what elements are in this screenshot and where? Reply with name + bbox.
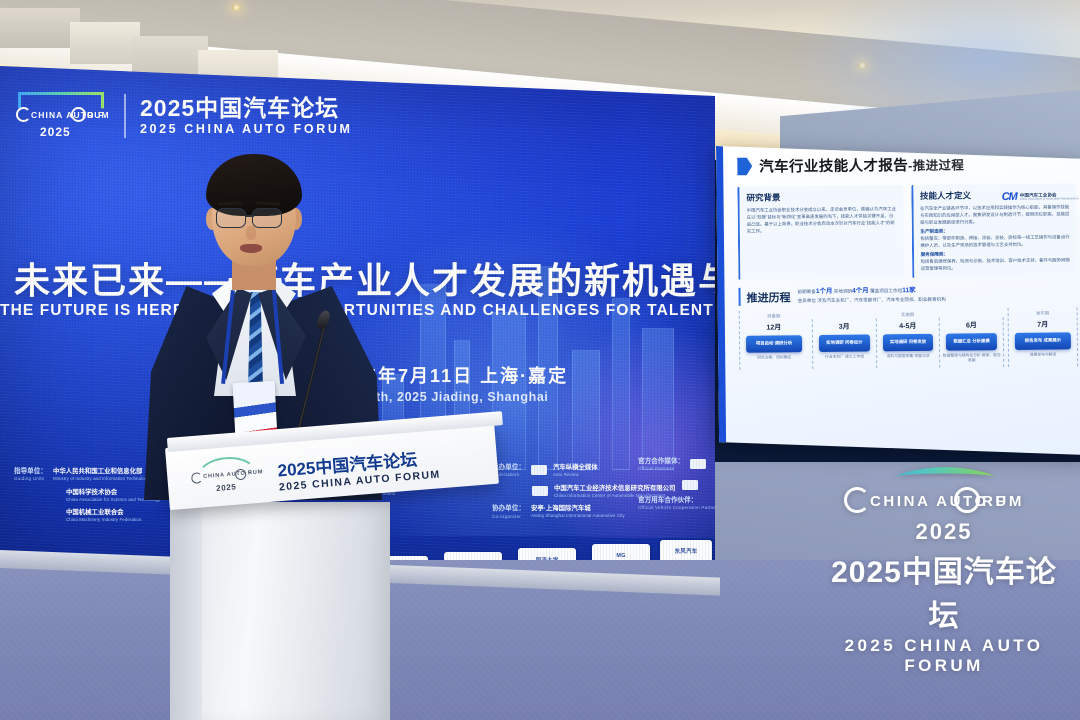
timeline-month: 4-5月 — [899, 320, 916, 330]
timeline-phase-label: 发布期 — [1036, 310, 1049, 316]
watermark-logo-icon: CHINA AUTO F RUM — [830, 463, 1058, 521]
ceiling-step — [0, 8, 80, 48]
credit-row: 官方用车合作伙伴： Official Vehicle Cooperation P… — [638, 497, 715, 511]
podium: CHINA AUTO F RUM 2025 2025中国汽车论坛 2025 CH… — [168, 436, 516, 720]
timeline-column: 3月 实地调研 问卷设计 行业主机厂 成立工作组 — [812, 318, 876, 369]
eyeglasses-lens-right — [252, 208, 282, 228]
caam-logo-text: 中国汽车工业协会 China Association of Automobile… — [1020, 192, 1079, 201]
timeline-chip: 实地调研 问卷设计 — [819, 334, 870, 352]
timeline-title: 推进历程 — [746, 289, 790, 305]
forum-lockup: CHINA AUTO F RUM 2025 2025中国汽车论坛 2025 CH… — [14, 90, 353, 142]
podium-front-panel — [202, 502, 390, 720]
timeline-column: 6月 数据汇总 分析建模 数据整理与结构化分析 框架、报告草案 — [939, 317, 1004, 368]
sponsor-tile: 东风汽车 — [660, 540, 712, 562]
timeline-chip: 报告发布 成果展示 — [1015, 332, 1070, 350]
panel-research-background: 研究背景 中国汽车工业协会职业技术分会成立以来，走访会员单位，普遍认为汽车工业在… — [737, 185, 903, 280]
timeline-note: 研究方案、目标确定 — [757, 355, 791, 361]
credit-row — [682, 479, 715, 490]
timeline-column: 4-5月 实地调研 问卷发放 资料与数据采集 深度访谈 — [875, 317, 939, 368]
hair — [206, 154, 302, 216]
logo-text-right: RUM — [87, 110, 110, 120]
timeline-month: 12月 — [766, 322, 781, 332]
watermark-logo-text-right: RUM — [982, 493, 1024, 510]
watermark-title-cn: 2025中国汽车论坛 — [830, 547, 1058, 635]
logo-year: 2025 — [40, 125, 71, 139]
watermark-year: 2025 — [830, 519, 1058, 545]
timeline-chip: 实地调研 问卷发放 — [883, 333, 934, 351]
credit-label: 官方用车合作伙伴： Official Vehicle Cooperation P… — [638, 497, 715, 511]
credit-logo-chip — [690, 459, 706, 469]
timeline-column: 发布期 7月 报告发布 成果展示 成果发布与解读 — [1008, 307, 1079, 367]
credit-label: 官方合作媒体： Official Partners — [638, 458, 684, 472]
eyeglasses-lens-left — [216, 208, 246, 228]
panel-subitem-body: 包括售后维修保养、检测与诊断、技术培训、客户技术支持、备件与服务网络运营管理等岗… — [921, 257, 1072, 273]
podium-side — [170, 498, 206, 720]
conference-photo-scene: CHINA AUTO F RUM 2025 2025中国汽车论坛 2025 CH… — [0, 0, 1080, 720]
panel-body: 在汽车全产业链各环节中，以技术应用和实践操作为核心职能，具备操作技能与实践知识的… — [920, 203, 1071, 226]
credit-name: 汽车纵横全媒体 Auto Review — [553, 464, 598, 478]
timeline-summary: 前期筹备1个月 实地调研4个月 覆盖项目工作组11家 会员单位 涉及汽车主机厂、… — [797, 286, 945, 305]
credit-row: 指导单位： Guiding Units 中华人民共和国工业和信息化部 Minis… — [14, 468, 160, 482]
slide-marker-icon — [737, 157, 752, 175]
credit-label: 指导单位： Guiding Units — [14, 468, 47, 482]
credit-logo-chip — [532, 486, 548, 496]
forum-title-en: 2025 CHINA AUTO FORUM — [140, 122, 353, 136]
caam-logo: CM 中国汽车工业协会 China Association of Automob… — [1002, 190, 1079, 203]
timeline-note: 会员单位 涉及汽车主机厂、汽车零部件厂、汽车专业院校、职业教育机构 — [798, 297, 946, 304]
timeline-chip: 数据汇总 分析建模 — [946, 333, 997, 351]
nose — [246, 226, 256, 240]
credit-name: 安亭·上海国际汽车城 Anting Shanghai International… — [531, 505, 625, 519]
ceiling-step — [70, 22, 140, 64]
timeline-month: 6月 — [966, 320, 977, 330]
mouth — [240, 244, 262, 253]
downlight-icon — [232, 4, 241, 11]
timeline-track: 准备期 12月 项目启动 调研分析 研究方案、目标确定 实施期 3月 实地调研 … — [739, 307, 1078, 370]
panel-body: 中国汽车工业协会职业技术分会成立以来，走访会员单位，普遍认为汽车工业在以"双碳"… — [747, 205, 898, 235]
timeline-phase-label: 准备期 — [767, 313, 780, 319]
forum-title-cn: 2025中国汽车论坛 — [140, 96, 353, 122]
divider — [124, 94, 126, 138]
caam-logo-mark: CM — [1002, 191, 1017, 203]
china-auto-forum-logo-icon: CHINA AUTO F RUM 2025 — [14, 90, 110, 142]
credit-group: 官方合作媒体： Official Partners 官方用车合作伙伴： Offi… — [638, 458, 715, 518]
timeline-chip: 项目启动 调研分析 — [746, 335, 801, 353]
timeline-note: 资料与数据采集 深度访谈 — [887, 353, 930, 359]
podium-logo-text-right: RUM — [248, 469, 264, 476]
eyeglasses-bridge — [246, 215, 254, 217]
panel-subitem-body: 包括整车、零部件制造、焊接、涂装、总装、质检等一线工艺操作与设备运行维护人员，以… — [920, 233, 1071, 249]
credit-name: 中华人民共和国工业和信息化部 Ministry of Industry and … — [53, 468, 150, 482]
slide-timeline: 推进历程 前期筹备1个月 实地调研4个月 覆盖项目工作组11家 会员单位 涉及汽… — [738, 285, 1078, 370]
timeline-phase-group: 实施期 3月 实地调研 问卷设计 行业主机厂 成立工作组 4-5月 实地调研 问… — [812, 308, 1005, 370]
timeline-month: 7月 — [1037, 319, 1048, 329]
presentation-slide-screen: 汽车行业技能人才报告-推进过程 CM 中国汽车工业协会 China Associ… — [716, 146, 1080, 455]
panel-heading: 研究背景 — [746, 190, 897, 204]
podium-logo-year: 2025 — [216, 482, 237, 493]
credit-row: 官方合作媒体： Official Partners — [638, 458, 715, 472]
slide-title: 汽车行业技能人才报告-推进过程 — [759, 153, 964, 176]
timeline-column: 准备期 12月 项目启动 调研分析 研究方案、目标确定 — [739, 310, 809, 370]
timeline-header: 推进历程 前期筹备1个月 实地调研4个月 覆盖项目工作组11家 会员单位 涉及汽… — [738, 285, 1077, 306]
timeline-note: 数据整理与结构化分析 框架、报告草案 — [942, 353, 1001, 364]
corner-watermark: CHINA AUTO F RUM 2025 2025中国汽车论坛 2025 CH… — [830, 463, 1058, 676]
timeline-note: 行业主机厂 成立工作组 — [825, 354, 864, 360]
credit-logo-chip — [682, 480, 698, 490]
slide-header: 汽车行业技能人才报告-推进过程 — [737, 152, 1076, 177]
timeline-month: 3月 — [839, 321, 850, 331]
credit-logo-chip — [531, 465, 547, 475]
watermark-title-en: 2025 CHINA AUTO FORUM — [830, 636, 1058, 676]
timeline-note: 成果发布与解读 — [1030, 352, 1057, 358]
